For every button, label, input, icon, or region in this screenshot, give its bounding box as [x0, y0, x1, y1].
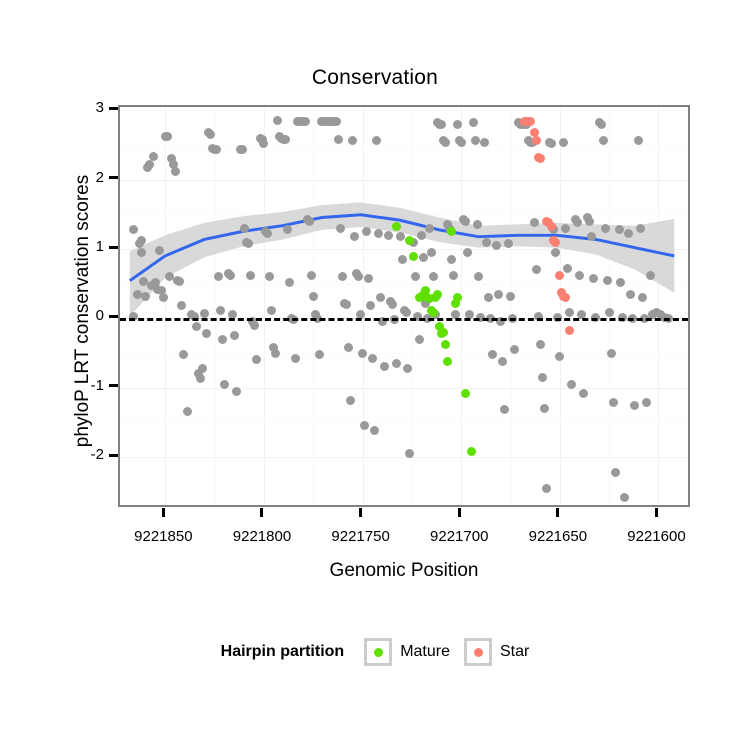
data-point-other: [141, 292, 150, 301]
data-point-mature: [443, 357, 452, 366]
x-tick: [359, 508, 362, 517]
data-point-other: [646, 271, 655, 280]
data-point-other: [473, 220, 482, 229]
data-point-other: [461, 217, 470, 226]
y-tick-label: 1: [72, 238, 104, 255]
data-point-other: [159, 293, 168, 302]
data-point-other: [307, 271, 316, 280]
data-point-star: [526, 117, 535, 126]
data-point-other: [179, 350, 188, 359]
data-point-other: [250, 321, 259, 330]
data-point-other: [542, 484, 551, 493]
data-point-other: [626, 290, 635, 299]
data-point-other: [238, 145, 247, 154]
y-tick-label: 2: [72, 169, 104, 186]
data-point-other: [453, 120, 462, 129]
data-point-other: [605, 308, 614, 317]
legend-entry-mature[interactable]: Mature: [364, 638, 450, 666]
data-point-other: [218, 335, 227, 344]
data-point-other: [494, 290, 503, 299]
data-point-other: [206, 130, 215, 139]
x-tick-label: 9221600: [601, 528, 711, 545]
data-point-other: [437, 120, 446, 129]
data-point-other: [530, 218, 539, 227]
data-point-other: [271, 349, 280, 358]
data-point-other: [220, 380, 229, 389]
y-tick: [109, 315, 118, 318]
data-point-other: [315, 350, 324, 359]
data-point-other: [232, 387, 241, 396]
legend-label: Mature: [400, 643, 450, 661]
data-point-other: [447, 255, 456, 264]
data-point-other: [301, 117, 310, 126]
data-point-mature: [409, 252, 418, 261]
legend-key-star: [464, 638, 492, 666]
data-point-other: [636, 224, 645, 233]
data-point-other: [171, 167, 180, 176]
data-point-other: [309, 292, 318, 301]
data-point-other: [449, 271, 458, 280]
data-point-mature: [461, 389, 470, 398]
data-point-other: [364, 274, 373, 283]
data-point-other: [510, 345, 519, 354]
data-point-other: [482, 238, 491, 247]
data-point-other: [579, 389, 588, 398]
data-point-other: [457, 138, 466, 147]
x-tick-label: 9221750: [306, 528, 416, 545]
data-point-other: [244, 239, 253, 248]
y-tick: [109, 176, 118, 179]
data-point-other: [415, 335, 424, 344]
data-point-other: [601, 224, 610, 233]
data-point-other: [175, 277, 184, 286]
chart-title: Conservation: [0, 66, 750, 90]
data-point-other: [376, 293, 385, 302]
data-point-other: [469, 118, 478, 127]
data-point-other: [183, 407, 192, 416]
conservation-scatter-plot: Conservation phyloP LRT conservation sco…: [0, 0, 750, 750]
y-tick-label: -1: [72, 377, 104, 394]
data-point-other: [267, 306, 276, 315]
data-point-other: [368, 354, 377, 363]
legend-key-mature: [364, 638, 392, 666]
data-point-other: [285, 278, 294, 287]
data-point-other: [607, 349, 616, 358]
y-tick-label: 3: [72, 99, 104, 116]
data-point-other: [630, 401, 639, 410]
legend-label: Star: [500, 643, 529, 661]
data-point-other: [402, 308, 411, 317]
data-point-other: [384, 231, 393, 240]
data-point-other: [155, 246, 164, 255]
data-point-other: [611, 468, 620, 477]
data-point-other: [567, 380, 576, 389]
data-point-other: [346, 396, 355, 405]
y-tick: [109, 454, 118, 457]
data-point-other: [585, 217, 594, 226]
legend: Hairpin partition MatureStar: [0, 638, 750, 666]
data-point-other: [587, 232, 596, 241]
data-point-other: [305, 217, 314, 226]
data-point-other: [396, 232, 405, 241]
data-point-mature: [453, 293, 462, 302]
data-point-other: [463, 248, 472, 257]
legend-dot-icon: [474, 648, 483, 657]
y-tick: [109, 107, 118, 110]
data-point-other: [538, 373, 547, 382]
x-axis-title: Genomic Position: [118, 560, 690, 582]
data-point-other: [246, 271, 255, 280]
zero-reference-line: [120, 318, 688, 321]
data-point-other: [196, 374, 205, 383]
data-point-star: [551, 238, 560, 247]
data-point-other: [561, 224, 570, 233]
data-point-other: [589, 274, 598, 283]
y-tick-label: 0: [72, 307, 104, 324]
data-point-mature: [467, 447, 476, 456]
data-point-mature: [392, 222, 401, 231]
data-point-other: [212, 145, 221, 154]
x-tick-label: 9221800: [207, 528, 317, 545]
y-tick: [109, 246, 118, 249]
y-tick-label: -2: [72, 446, 104, 463]
data-point-other: [575, 271, 584, 280]
data-point-other: [417, 231, 426, 240]
plot-panel: [118, 105, 690, 507]
data-point-other: [441, 138, 450, 147]
data-point-other: [398, 255, 407, 264]
data-point-other: [240, 224, 249, 233]
y-tick: [109, 384, 118, 387]
x-tick-label: 9221650: [503, 528, 613, 545]
data-point-other: [615, 225, 624, 234]
data-point-mature: [433, 290, 442, 299]
legend-title: Hairpin partition: [221, 643, 345, 661]
data-point-other: [226, 271, 235, 280]
x-tick: [260, 508, 263, 517]
data-point-other: [392, 359, 401, 368]
data-point-other: [536, 340, 545, 349]
data-point-other: [273, 116, 282, 125]
data-point-other: [506, 292, 515, 301]
data-point-other: [540, 404, 549, 413]
x-tick-label: 9221700: [404, 528, 514, 545]
data-point-other: [388, 300, 397, 309]
data-point-other: [358, 349, 367, 358]
legend-dot-icon: [374, 648, 383, 657]
data-point-other: [425, 224, 434, 233]
x-tick-label: 9221850: [108, 528, 218, 545]
data-point-mature: [439, 328, 448, 337]
data-point-other: [498, 357, 507, 366]
legend-entry-star[interactable]: Star: [464, 638, 529, 666]
data-point-other: [597, 120, 606, 129]
data-point-other: [216, 306, 225, 315]
x-tick: [655, 508, 658, 517]
x-tick: [556, 508, 559, 517]
data-point-other: [149, 152, 158, 161]
x-tick: [458, 508, 461, 517]
data-point-other: [603, 276, 612, 285]
data-point-other: [471, 136, 480, 145]
x-tick: [162, 508, 165, 517]
